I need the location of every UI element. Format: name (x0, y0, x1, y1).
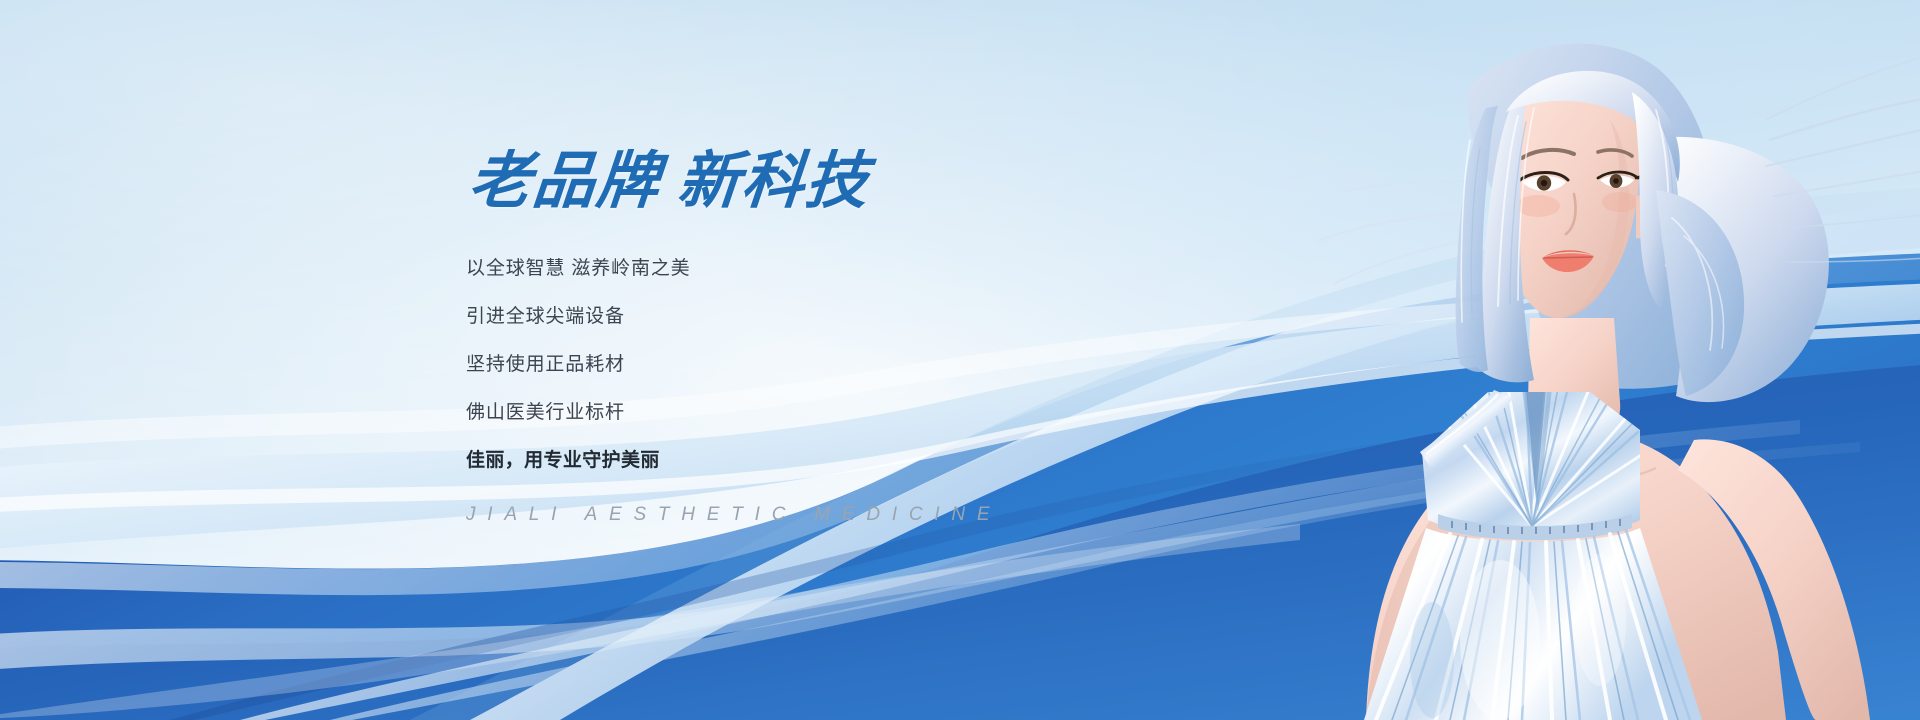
list-item: 佛山医美行业标杆 (466, 403, 1166, 422)
brand-tagline: JIALI AESTHETIC MEDICINE (466, 504, 1166, 526)
list-item: 引进全球尖端设备 (466, 307, 1166, 326)
feature-list: 以全球智慧 滋养岭南之美 引进全球尖端设备 坚持使用正品耗材 佛山医美行业标杆 … (466, 259, 1166, 470)
hero-banner: 老品牌 新科技 以全球智慧 滋养岭南之美 引进全球尖端设备 坚持使用正品耗材 佛… (0, 0, 1920, 720)
hero-copy: 老品牌 新科技 以全球智慧 滋养岭南之美 引进全球尖端设备 坚持使用正品耗材 佛… (466, 150, 1166, 526)
list-item-emphasis: 佳丽，用专业守护美丽 (466, 451, 1166, 470)
list-item: 坚持使用正品耗材 (466, 355, 1166, 374)
list-item: 以全球智慧 滋养岭南之美 (466, 259, 1166, 278)
page-title: 老品牌 新科技 (466, 150, 1172, 215)
